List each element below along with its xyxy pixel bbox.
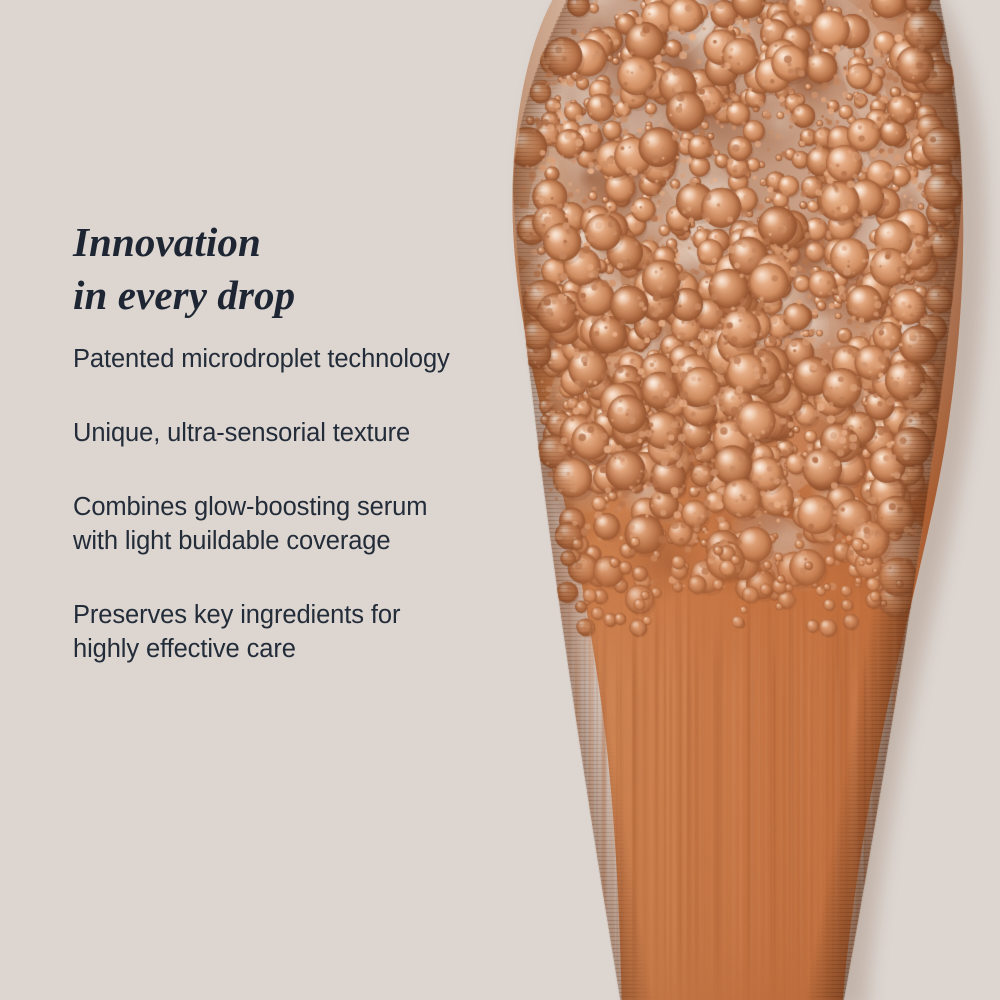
product-marketing-panel: Innovation in every drop Patented microd… — [0, 0, 1000, 1000]
benefit-item: Patented microdroplet technology — [73, 343, 468, 377]
swatch-body — [480, 0, 1000, 1000]
benefit-item: Unique, ultra-sensorial texture — [73, 417, 468, 451]
benefit-list: Patented microdroplet technology Unique,… — [73, 343, 468, 666]
page-title: Innovation in every drop — [73, 216, 473, 323]
copy-column: Innovation in every drop Patented microd… — [73, 0, 473, 1000]
benefit-item: Combines glow-boosting serum with light … — [73, 491, 468, 559]
benefit-item: Preserves key ingredients for highly eff… — [73, 599, 468, 667]
